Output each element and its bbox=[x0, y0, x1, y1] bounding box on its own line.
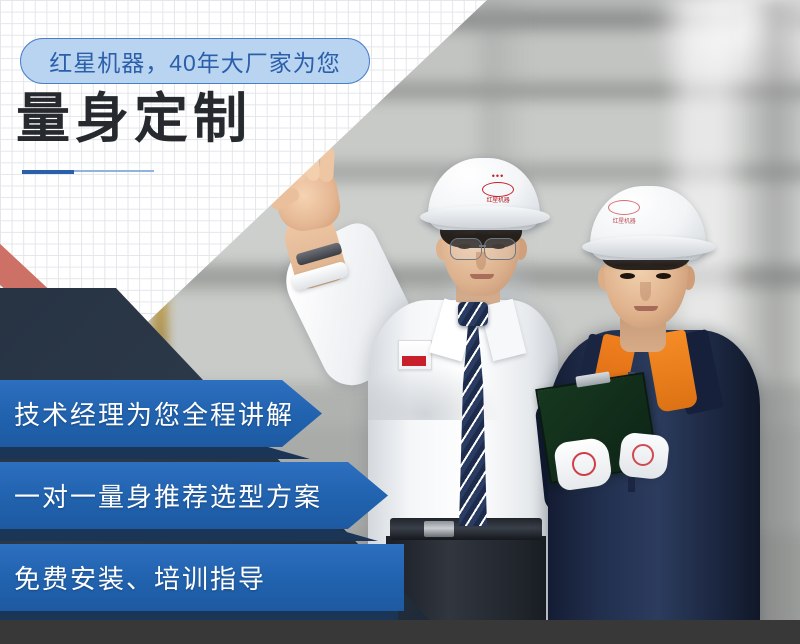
engineer-badge-text bbox=[399, 341, 427, 353]
feature-bar-1-label: 技术经理为您全程讲解 bbox=[0, 395, 294, 432]
engineer-tie-knot bbox=[458, 302, 488, 326]
brand-badge-label: 红星机器，40年大厂家为您 bbox=[49, 44, 341, 78]
page-title: 量身定制 bbox=[16, 92, 252, 146]
technician-nose bbox=[640, 282, 651, 301]
feature-bar-2: 一对一量身推荐选型方案 bbox=[0, 462, 388, 529]
engineer-hardhat-brim bbox=[420, 206, 550, 228]
hardhat-logo-mark bbox=[608, 200, 640, 215]
glove-logo-icon bbox=[632, 444, 654, 466]
engineer-glasses-bridge bbox=[479, 245, 486, 247]
headline-rule-thick bbox=[22, 170, 74, 174]
engineer-hardhat-logo: ••• 红星机器 bbox=[478, 172, 518, 202]
feature-bar-2-label: 一对一量身推荐选型方案 bbox=[0, 477, 322, 514]
hardhat-logo-mark bbox=[482, 182, 514, 197]
technician-eye bbox=[656, 273, 671, 279]
engineer-belt-buckle bbox=[424, 521, 454, 537]
engineer-glasses-lens bbox=[484, 238, 516, 260]
feature-bar-3: 免费安装、培训指导 bbox=[0, 544, 404, 611]
hardhat-logo-text: 红星机器 bbox=[602, 216, 646, 225]
feature-bar-shadow bbox=[0, 529, 378, 541]
promotional-banner: ••• 红星机器 红星机器 bbox=[0, 0, 800, 644]
feature-bar-3-label: 免费安装、培训指导 bbox=[0, 559, 266, 596]
feature-bar-shadow bbox=[0, 447, 310, 459]
engineer-mouth bbox=[470, 274, 494, 279]
technician-eye bbox=[620, 273, 635, 279]
footer-accent-strip bbox=[0, 611, 398, 620]
hardhat-logo-text: 红星机器 bbox=[478, 198, 518, 205]
technician-hardhat-logo: 红星机器 bbox=[602, 200, 646, 230]
footer-band bbox=[0, 620, 800, 644]
technician-mouth bbox=[634, 306, 658, 311]
hardhat-logo-dots: ••• bbox=[478, 172, 518, 182]
engineer-badge-stripe bbox=[402, 356, 426, 366]
technician-hardhat-brim bbox=[582, 236, 716, 258]
feature-bar-1: 技术经理为您全程讲解 bbox=[0, 380, 322, 447]
brand-badge: 红星机器，40年大厂家为您 bbox=[20, 38, 370, 84]
engineer-nose bbox=[476, 252, 486, 270]
